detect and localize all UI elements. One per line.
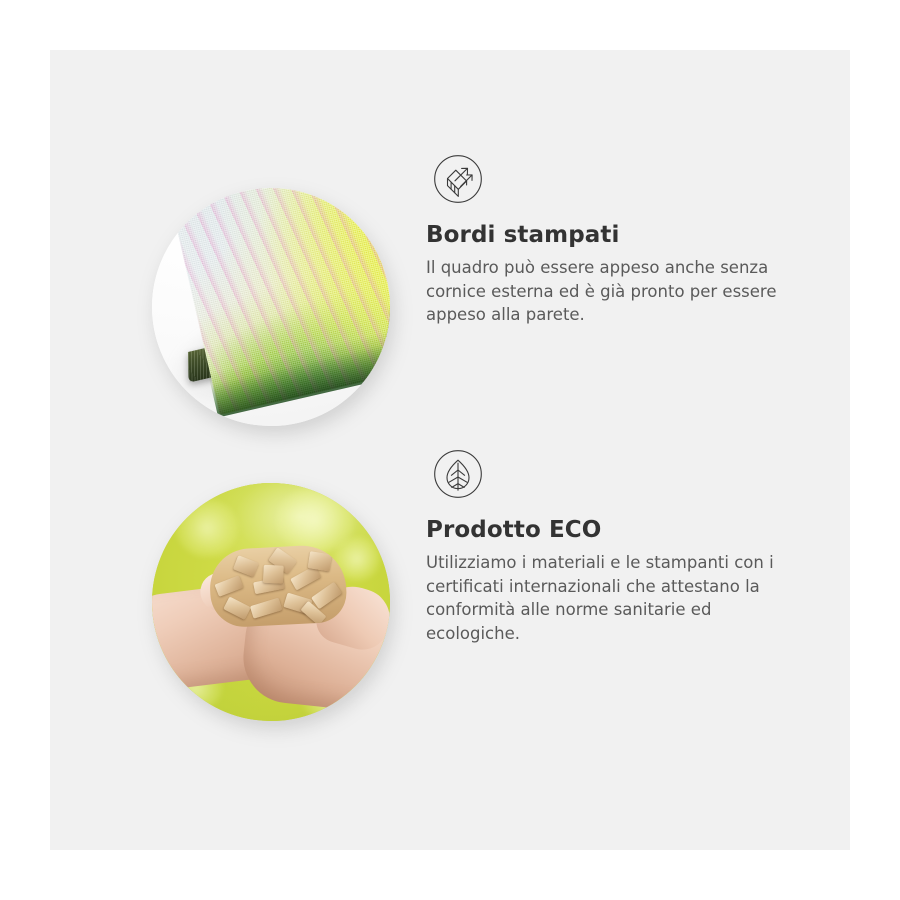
woodchip <box>308 551 332 571</box>
woodchips-pile <box>208 543 348 628</box>
woodchip <box>250 598 282 619</box>
product-feature-banner: Bordi stampati Il quadro può essere appe… <box>0 0 900 900</box>
canvas-photo-backdrop <box>152 188 390 426</box>
woodchip <box>263 565 284 584</box>
feature-description: Il quadro può essere appeso anche senza … <box>426 256 798 326</box>
hands-woodchips-photo <box>152 483 390 721</box>
woodchip <box>223 596 251 619</box>
feature-bordi-stampati: Bordi stampati Il quadro può essere appe… <box>50 140 850 440</box>
feature-text-block: Bordi stampati Il quadro può essere appe… <box>426 222 798 327</box>
leaf-icon <box>433 449 483 499</box>
woodchip <box>311 582 342 610</box>
canvas-corner-photo <box>152 188 390 426</box>
feature-title: Bordi stampati <box>426 222 798 248</box>
eco-photo-backdrop <box>152 483 390 721</box>
feature-text-block: Prodotto ECO Utilizziamo i materiali e l… <box>426 517 798 645</box>
content-panel: Bordi stampati Il quadro può essere appe… <box>50 50 850 850</box>
bokeh-light <box>176 499 238 557</box>
woodchip <box>214 575 243 596</box>
feature-prodotto-eco: Prodotto ECO Utilizziamo i materiali e l… <box>50 435 850 735</box>
printed-edges-icon <box>433 154 483 204</box>
feature-description: Utilizziamo i materiali e le stampanti c… <box>426 551 798 645</box>
feature-title: Prodotto ECO <box>426 517 798 543</box>
woodchip <box>233 555 259 577</box>
